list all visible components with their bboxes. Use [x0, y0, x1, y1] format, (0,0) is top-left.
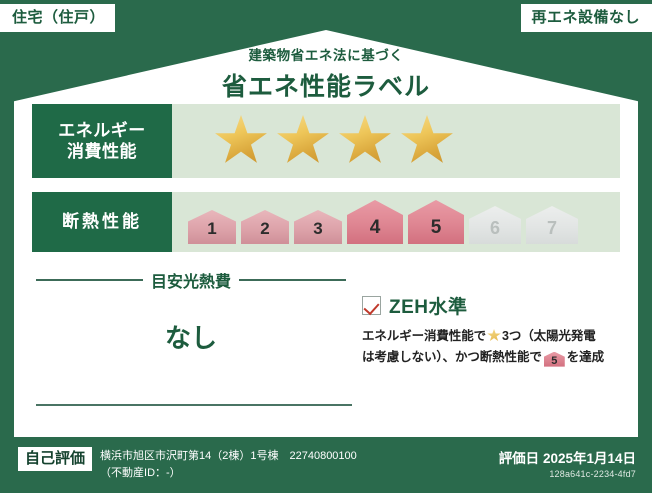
star-icon	[487, 329, 501, 342]
grade-badge-6: 6	[469, 206, 521, 244]
property-id: （不動産ID：-）	[100, 465, 357, 482]
zeh-heading: ZEH水準	[362, 292, 630, 319]
footer-right: 評価日 2025年1月14日 128a641c-2234-4fd7	[499, 447, 636, 479]
utility-cost-underline	[36, 404, 352, 406]
energy-label-line1: エネルギー	[58, 120, 146, 141]
grade-badge-label: 7	[547, 218, 557, 244]
star-icon	[400, 115, 454, 167]
footer: 自己評価 横浜市旭区市沢町第14（2棟）1号棟 22740800100 （不動産…	[0, 443, 652, 493]
energy-performance-label: エネルギー 消費性能	[32, 104, 172, 178]
insulation-performance-label: 断熱性能	[32, 192, 172, 252]
address-block: 横浜市旭区市沢町第14（2棟）1号棟 22740800100 （不動産ID：-）	[100, 447, 357, 482]
zeh-block: ZEH水準 エネルギー消費性能で3つ（太陽光発電 は考慮しない）、かつ断熱性能で…	[362, 292, 630, 367]
grade-badge-label: 1	[207, 219, 216, 244]
star-icon	[214, 115, 268, 167]
heading-rule-right	[239, 279, 346, 281]
zeh-desc-stars: 3つ（太陽光発電	[502, 329, 596, 343]
title-subtitle: 建築物省エネ法に基づく	[14, 44, 638, 64]
document-id: 128a641c-2234-4fd7	[499, 469, 636, 479]
star-rating	[172, 115, 454, 167]
grade-badge-7: 7	[526, 206, 578, 244]
grade-badge-inline: 5	[544, 352, 565, 367]
energy-performance-row: エネルギー 消費性能	[32, 104, 620, 178]
zeh-description: エネルギー消費性能で3つ（太陽光発電 は考慮しない）、かつ断熱性能で5を達成	[362, 326, 630, 367]
badge-renewable-energy: 再エネ設備なし	[521, 4, 652, 32]
insulation-performance-row: 断熱性能 1 2 3 4 5 6	[32, 192, 620, 252]
badge-building-type: 住宅（住戸）	[0, 4, 115, 32]
utility-cost-value: なし	[36, 318, 346, 355]
zeh-title: ZEH水準	[389, 292, 468, 319]
utility-cost-heading: 目安光熱費	[36, 268, 346, 292]
footer-left: 自己評価 横浜市旭区市沢町第14（2棟）1号棟 22740800100 （不動産…	[18, 447, 357, 482]
zeh-desc-part3: を達成	[567, 350, 604, 364]
grade-badge-label: 3	[313, 219, 322, 244]
energy-label-line2: 消費性能	[67, 141, 137, 162]
grade-badge-label: 4	[370, 217, 381, 244]
energy-performance-value	[172, 104, 620, 178]
utility-cost-block: 目安光熱費 なし	[36, 268, 346, 355]
insulation-label-text: 断熱性能	[62, 211, 142, 232]
checkmark-icon	[362, 296, 381, 315]
energy-performance-label: 住宅（住戸） 再エネ設備なし 建築物省エネ法に基づく 省エネ性能ラベル エネルギ…	[0, 0, 652, 493]
zeh-desc-part1: エネルギー消費性能で	[362, 329, 486, 343]
grade-badge-1: 1	[188, 210, 236, 244]
grade-badge-label: 5	[431, 217, 442, 244]
grade-badge-2: 2	[241, 210, 289, 244]
heading-rule-left	[36, 279, 143, 281]
grade-badge-label: 6	[490, 218, 500, 244]
grade-badge-4: 4	[347, 200, 403, 244]
zeh-desc-part2: は考慮しない）、かつ断熱性能で	[362, 350, 542, 364]
self-evaluation-badge: 自己評価	[18, 447, 92, 471]
grade-scale: 1 2 3 4 5 6 7	[172, 200, 578, 244]
star-icon	[276, 115, 330, 167]
grade-badge-3: 3	[294, 210, 342, 244]
utility-cost-heading-text: 目安光熱費	[151, 268, 231, 292]
grade-badge-5: 5	[408, 200, 464, 244]
insulation-performance-value: 1 2 3 4 5 6 7	[172, 192, 620, 252]
evaluation-date: 評価日 2025年1月14日	[499, 447, 636, 467]
star-icon	[338, 115, 392, 167]
grade-badge-label: 2	[260, 219, 269, 244]
page-title: 省エネ性能ラベル	[14, 67, 638, 103]
property-address: 横浜市旭区市沢町第14（2棟）1号棟 22740800100	[100, 448, 357, 465]
title-block: 建築物省エネ法に基づく 省エネ性能ラベル	[14, 44, 638, 103]
label-panel: 建築物省エネ法に基づく 省エネ性能ラベル エネルギー 消費性能 断熱性能	[14, 30, 638, 437]
